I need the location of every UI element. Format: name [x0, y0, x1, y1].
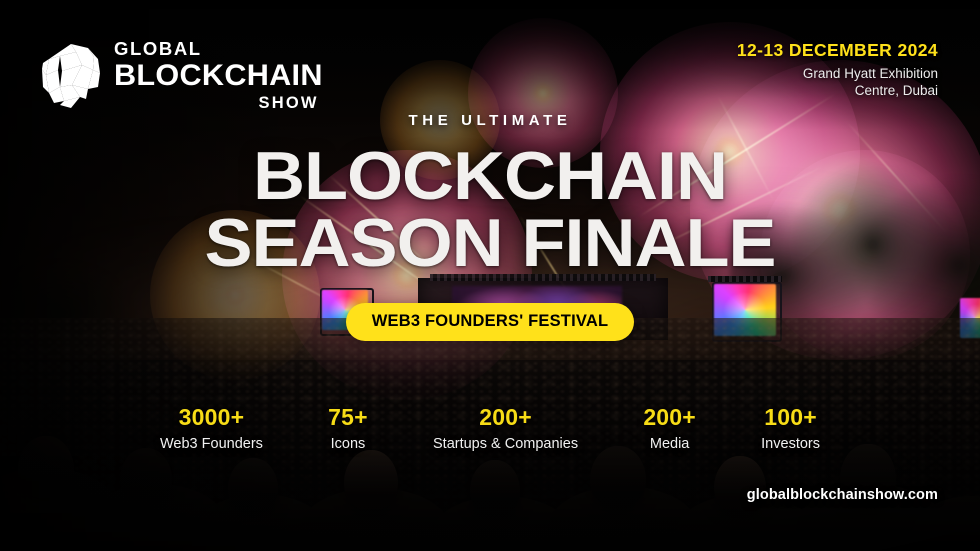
stat-item: 200+ Startups & Companies [433, 404, 578, 452]
event-venue: Grand Hyatt Exhibition Centre, Dubai [737, 65, 938, 100]
event-dates: 12-13 DECEMBER 2024 [737, 40, 938, 61]
stat-label: Web3 Founders [160, 436, 263, 452]
venue-line-2: Centre, Dubai [855, 83, 938, 98]
stat-label: Investors [761, 436, 820, 452]
polygon-gem-icon [40, 43, 102, 109]
festival-badge[interactable]: WEB3 FOUNDERS' FESTIVAL [346, 303, 634, 341]
logo-line-show: SHOW [114, 95, 319, 112]
stat-item: 200+ Media [643, 404, 696, 452]
stat-number: 200+ [433, 404, 578, 431]
hero-eyebrow: THE ULTIMATE [0, 112, 980, 129]
stat-label: Media [643, 436, 696, 452]
hero-title-line-2: SEASON FINALE [0, 212, 980, 275]
stat-number: 75+ [328, 404, 368, 431]
hero-headline: THE ULTIMATE BLOCKCHAIN SEASON FINALE [0, 112, 980, 275]
website-url[interactable]: globalblockchainshow.com [747, 487, 938, 503]
stat-number: 3000+ [160, 404, 263, 431]
stat-number: 100+ [761, 404, 820, 431]
hero-title-line-1: BLOCKCHAIN [0, 145, 980, 208]
stat-item: 75+ Icons [328, 404, 368, 452]
promo-poster: GLOBAL BLOCKCHAIN SHOW 12-13 DECEMBER 20… [0, 0, 980, 551]
venue-line-1: Grand Hyatt Exhibition [803, 66, 938, 81]
stat-item: 3000+ Web3 Founders [160, 404, 263, 452]
logo-line-blockchain: BLOCKCHAIN [114, 61, 323, 91]
hero-badge-wrap: WEB3 FOUNDERS' FESTIVAL [0, 303, 980, 341]
stat-number: 200+ [643, 404, 696, 431]
stat-label: Startups & Companies [433, 436, 578, 452]
brand-logo[interactable]: GLOBAL BLOCKCHAIN SHOW [40, 40, 319, 111]
logo-line-global: GLOBAL [114, 40, 319, 59]
stat-label: Icons [328, 436, 368, 452]
event-date-venue: 12-13 DECEMBER 2024 Grand Hyatt Exhibiti… [737, 40, 938, 100]
stat-item: 100+ Investors [761, 404, 820, 452]
stats-row: 3000+ Web3 Founders 75+ Icons 200+ Start… [160, 404, 820, 452]
